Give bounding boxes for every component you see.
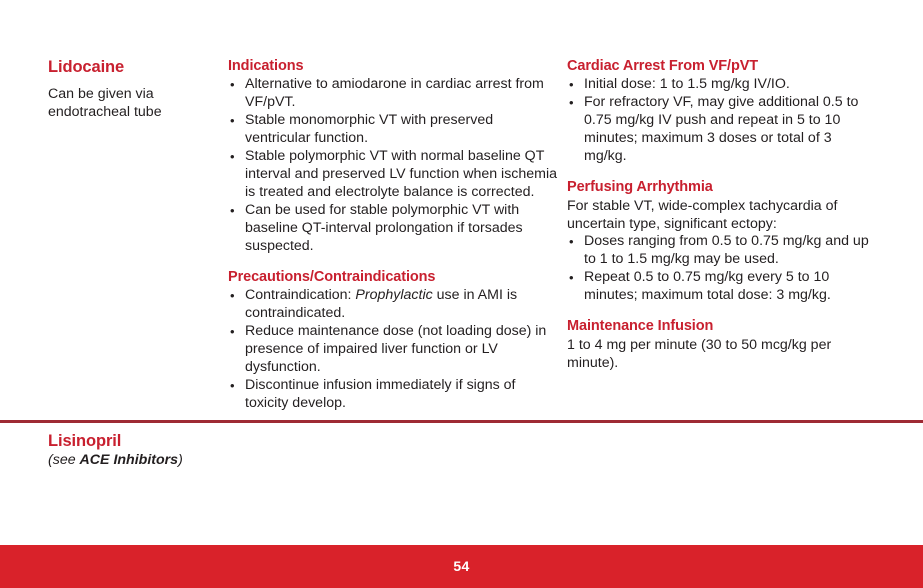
list-item: Stable polymorphic VT with normal baseli…	[228, 148, 560, 202]
page: Lidocaine Can be given via endotracheal …	[0, 0, 923, 588]
page-number: 54	[0, 545, 923, 588]
cross-reference-suffix: )	[178, 452, 183, 468]
footer-bar: 54	[0, 545, 923, 588]
cross-reference-line: (see ACE Inhibitors)	[48, 452, 448, 470]
cross-reference-prefix: (see	[48, 452, 80, 468]
indications-list: Alternative to amiodarone in cardiac arr…	[228, 76, 560, 256]
precautions-list: Contraindication: Prophylactic use in AM…	[228, 287, 560, 413]
list-item: Alternative to amiodarone in cardiac arr…	[228, 76, 560, 112]
cross-reference-target: ACE Inhibitors	[80, 452, 179, 468]
perfusing-arrhythmia-heading: Perfusing Arrhythmia	[567, 179, 877, 196]
list-item: Discontinue infusion immediately if sign…	[228, 377, 560, 413]
cardiac-arrest-list: Initial dose: 1 to 1.5 mg/kg IV/IO. For …	[567, 76, 877, 166]
list-item: Repeat 0.5 to 0.75 mg/kg every 5 to 10 m…	[567, 269, 877, 305]
list-item: Contraindication: Prophylactic use in AM…	[228, 287, 560, 323]
list-item-text-prefix: Contraindication:	[245, 287, 355, 303]
list-item: Doses ranging from 0.5 to 0.75 mg/kg and…	[567, 233, 877, 269]
drug-route-note: Can be given via endotracheal tube	[48, 86, 216, 122]
precautions-heading: Precautions/Contraindications	[228, 269, 560, 286]
perfusing-arrhythmia-intro: For stable VT, wide-complex tachycardia …	[567, 198, 877, 234]
list-item: Reduce maintenance dose (not loading dos…	[228, 323, 560, 377]
drug-name-heading: Lisinopril	[48, 432, 448, 451]
maintenance-infusion-text: 1 to 4 mg per minute (30 to 50 mcg/kg pe…	[567, 337, 877, 373]
maintenance-infusion-heading: Maintenance Infusion	[567, 318, 877, 335]
list-item: Can be used for stable polymorphic VT wi…	[228, 202, 560, 256]
section-divider	[0, 420, 923, 423]
drug-entry-middle-column: Indications Alternative to amiodarone in…	[228, 58, 560, 413]
drug-entry-right-column: Cardiac Arrest From VF/pVT Initial dose:…	[567, 58, 877, 373]
list-item: Initial dose: 1 to 1.5 mg/kg IV/IO.	[567, 76, 877, 94]
drug-name-heading: Lidocaine	[48, 58, 216, 77]
perfusing-arrhythmia-list: Doses ranging from 0.5 to 0.75 mg/kg and…	[567, 233, 877, 305]
list-item: Stable monomorphic VT with preserved ven…	[228, 112, 560, 148]
cardiac-arrest-heading: Cardiac Arrest From VF/pVT	[567, 58, 877, 75]
list-item-text-emphasis: Prophylactic	[355, 287, 432, 303]
drug-entry-lidocaine: Lidocaine Can be given via endotracheal …	[0, 58, 923, 418]
drug-entry-left-column: Lidocaine Can be given via endotracheal …	[48, 58, 216, 122]
indications-heading: Indications	[228, 58, 560, 75]
list-item: For refractory VF, may give additional 0…	[567, 94, 877, 166]
drug-entry-lisinopril: Lisinopril (see ACE Inhibitors)	[48, 432, 448, 470]
